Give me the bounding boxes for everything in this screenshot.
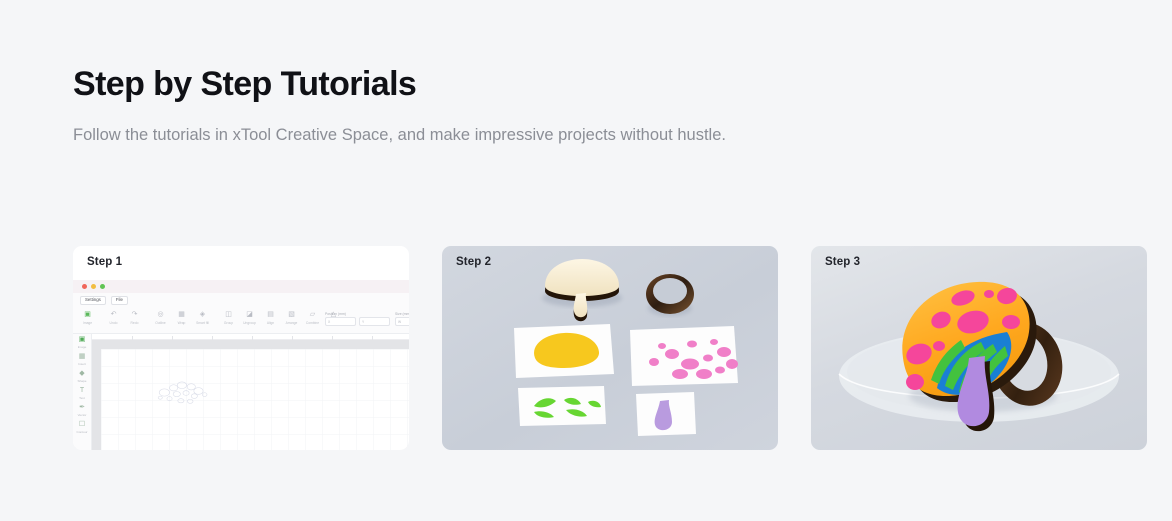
toolbar-label: Combine: [306, 321, 319, 325]
wooden-mushroom-cutout: [545, 259, 619, 321]
sidebar-item-text[interactable]: T Text: [73, 387, 91, 400]
image-icon: ▣: [84, 311, 91, 319]
app-toolbar: ▣ Image ↶ Undo ↷ Redo ◎ Ou: [73, 308, 409, 334]
toolbar-button-smart-fill[interactable]: ◈ Smart fill: [192, 311, 213, 325]
green-leaves-sticker-sheet: [518, 386, 606, 426]
toolbar-label: Arrange: [286, 321, 298, 325]
toolbar-button-undo[interactable]: ↶ Undo: [103, 311, 124, 325]
page-subtitle: Follow the tutorials in xTool Creative S…: [73, 123, 783, 149]
toolbar-button-align[interactable]: ▤ Align: [260, 311, 281, 325]
close-icon[interactable]: [82, 284, 87, 289]
arrange-icon: ▧: [288, 311, 295, 319]
sidebar-item-label: Shape: [78, 379, 87, 383]
outline-icon: ◎: [157, 311, 163, 319]
shape-icon: ◆: [79, 370, 84, 378]
toolbar-button-combine[interactable]: ▱ Combine: [302, 311, 323, 325]
toolbar-label: Undo: [110, 321, 118, 325]
window-titlebar: [73, 280, 409, 293]
pink-spots-sticker-sheet: [630, 326, 738, 386]
toolbar-label: Wrap: [178, 321, 186, 325]
contour-icon: ☐: [79, 421, 85, 429]
vector-pen-icon: ✒: [79, 404, 85, 412]
step-1-label: Step 1: [87, 256, 122, 268]
toolbar-label: Outline: [155, 321, 165, 325]
step-card-3[interactable]: Step 3: [811, 246, 1147, 450]
position-field-group: Position (mm) X Y: [325, 312, 390, 326]
sidebar-item-shape[interactable]: ◆ Shape: [73, 370, 91, 383]
toolbar-label: Image: [83, 321, 92, 325]
tutorials-section: Step by Step Tutorials Follow the tutori…: [0, 0, 1172, 521]
step-card-2[interactable]: Step 2: [442, 246, 778, 450]
position-y-input[interactable]: Y: [359, 317, 390, 326]
app-sidebar: ▣ Image ▦ Insert ◆ Shape T Text: [73, 334, 92, 450]
size-inputs: W: [395, 317, 409, 326]
toolbar-label: Align: [267, 321, 274, 325]
window-tabbar: Settings File: [73, 293, 409, 308]
sidebar-item-contour[interactable]: ☐ Contour: [73, 421, 91, 434]
size-caption: Size (mm): [395, 312, 409, 316]
sidebar-item-label: Vector: [78, 413, 87, 417]
wrap-icon: ▦: [178, 311, 185, 319]
toolbar-button-wrap[interactable]: ▦ Wrap: [171, 311, 192, 325]
size-field-group: Size (mm) W: [395, 312, 409, 326]
toolbar-button-image[interactable]: ▣ Image: [77, 311, 98, 325]
step-2-label: Step 2: [456, 256, 491, 268]
toolbar-label: Smart fill: [196, 321, 209, 325]
position-inputs: X Y: [325, 317, 390, 326]
redo-icon: ↷: [132, 311, 138, 319]
sidebar-item-insert[interactable]: ▦ Insert: [73, 353, 91, 366]
parts-photo: [442, 246, 778, 450]
size-w-input[interactable]: W: [395, 317, 409, 326]
yellow-cap-sticker-sheet: [514, 324, 614, 378]
group-icon: ◫: [225, 311, 232, 319]
steps-card-row: Step 1 Settings File ▣ Image: [73, 246, 1099, 450]
wooden-ring-band: [646, 274, 694, 314]
toolbar-label: Redo: [131, 321, 139, 325]
toolbar-label: Group: [224, 321, 233, 325]
minimize-icon[interactable]: [91, 284, 96, 289]
combine-icon: ▱: [310, 311, 315, 319]
sidebar-item-label: Image: [78, 345, 87, 349]
tab-file[interactable]: File: [111, 296, 128, 305]
mushroom-vector-outline[interactable]: [153, 377, 215, 407]
step-3-label: Step 3: [825, 256, 860, 268]
sidebar-item-label: Contour: [76, 430, 87, 434]
ungroup-icon: ◪: [246, 311, 253, 319]
position-caption: Position (mm): [325, 312, 390, 316]
smart-fill-icon: ◈: [200, 311, 205, 319]
sidebar-item-label: Insert: [78, 362, 86, 366]
card-1-header: [73, 246, 409, 280]
insert-icon: ▦: [79, 353, 86, 361]
toolbar-button-redo[interactable]: ↷ Redo: [124, 311, 145, 325]
step-card-1[interactable]: Step 1 Settings File ▣ Image: [73, 246, 409, 450]
toolbar-button-ungroup[interactable]: ◪ Ungroup: [239, 311, 260, 325]
undo-icon: ↶: [111, 311, 117, 319]
toolbar-button-group[interactable]: ◫ Group: [218, 311, 239, 325]
zoom-icon[interactable]: [100, 284, 105, 289]
image-icon: ▣: [79, 336, 86, 344]
toolbar-button-outline[interactable]: ◎ Outline: [150, 311, 171, 325]
design-canvas[interactable]: [101, 349, 409, 450]
toolbar-label: Ungroup: [243, 321, 256, 325]
toolbar-button-arrange[interactable]: ▧ Arrange: [281, 311, 302, 325]
finished-ring-photo: [811, 246, 1147, 450]
purple-stem-sticker-sheet: [636, 392, 696, 436]
tab-settings[interactable]: Settings: [80, 296, 106, 305]
page-title: Step by Step Tutorials: [73, 64, 833, 105]
align-icon: ▤: [267, 311, 274, 319]
xtool-creative-space-window: Settings File ▣ Image ↶ Undo ↷: [73, 280, 409, 450]
sidebar-item-image[interactable]: ▣ Image: [73, 336, 91, 349]
text-icon: T: [80, 387, 84, 395]
sidebar-item-vector[interactable]: ✒ Vector: [73, 404, 91, 417]
position-x-input[interactable]: X: [325, 317, 356, 326]
app-workspace[interactable]: [92, 340, 409, 450]
section-header: Step by Step Tutorials Follow the tutori…: [73, 64, 833, 148]
sidebar-item-label: Text: [79, 396, 85, 400]
